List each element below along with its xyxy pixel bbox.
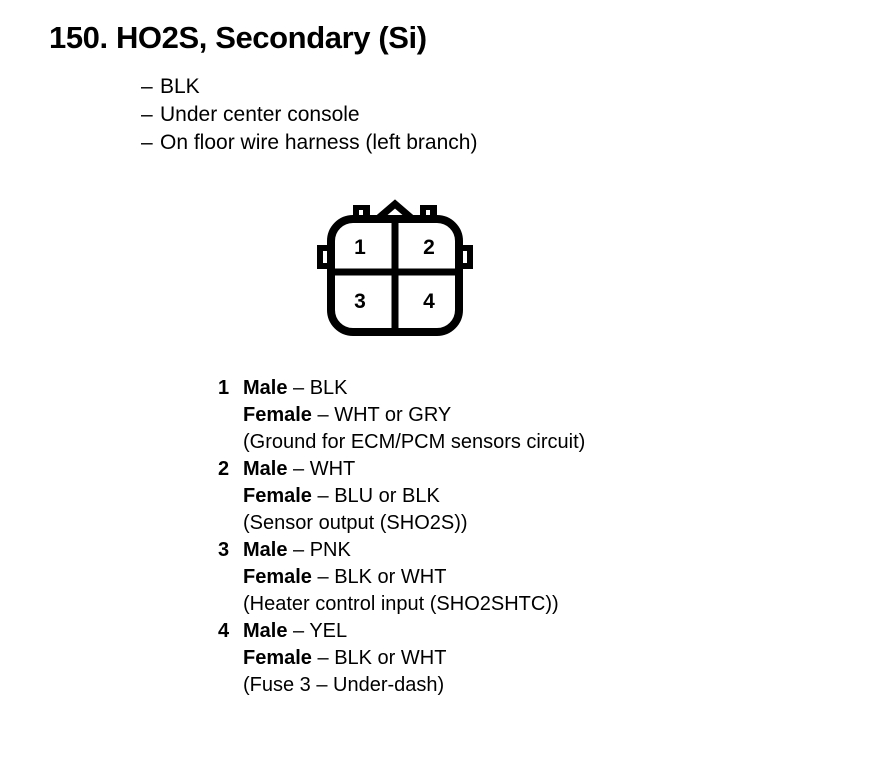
pin-male-separator: –	[287, 620, 309, 642]
pin-male-separator: –	[287, 539, 309, 561]
pin-entry-index: 1	[218, 375, 243, 402]
pin-female-separator: –	[312, 404, 334, 426]
pin-male-color: YEL	[309, 620, 347, 642]
bullet-dash-icon: –	[141, 73, 160, 101]
pin-male-label: Male	[243, 458, 287, 480]
location-item-label: BLK	[160, 73, 200, 101]
location-list: – BLK – Under center console – On floor …	[141, 73, 477, 157]
pin-female-row: Female – BLK or WHT	[243, 645, 446, 672]
pin-entry: 4 Male – YEL Female – BLK or WHT (Fuse 3…	[218, 618, 585, 699]
connector-pin-number-2: 2	[423, 236, 435, 259]
pin-female-separator: –	[312, 647, 334, 669]
location-item-label: Under center console	[160, 101, 360, 129]
pin-female-color: BLK or WHT	[334, 647, 446, 669]
connector-pin-number-4: 4	[423, 290, 435, 313]
pin-function: (Sensor output (SHO2S))	[243, 510, 468, 537]
pin-male-color: BLK	[310, 377, 348, 399]
pin-female-label: Female	[243, 647, 312, 669]
location-item: – Under center console	[141, 101, 477, 129]
pin-male-color: WHT	[310, 458, 356, 480]
pin-function: (Ground for ECM/PCM sensors circuit)	[243, 429, 585, 456]
pin-entry: 2 Male – WHT Female – BLU or BLK (Sensor…	[218, 456, 585, 537]
bullet-dash-icon: –	[141, 101, 160, 129]
pin-entry: 3 Male – PNK Female – BLK or WHT (Heater…	[218, 537, 585, 618]
location-item: – BLK	[141, 73, 477, 101]
pin-male-separator: –	[287, 377, 309, 399]
pin-female-color: BLK or WHT	[334, 566, 446, 588]
pin-entry: 1 Male – BLK Female – WHT or GRY (Ground…	[218, 375, 585, 456]
pin-description-list: 1 Male – BLK Female – WHT or GRY (Ground…	[218, 375, 585, 699]
pin-male-label: Male	[243, 539, 287, 561]
pin-female-label: Female	[243, 404, 312, 426]
pin-female-label: Female	[243, 566, 312, 588]
pin-male-row: Male – WHT	[243, 456, 468, 483]
pin-male-row: Male – PNK	[243, 537, 559, 564]
pin-female-label: Female	[243, 485, 312, 507]
pin-male-label: Male	[243, 377, 287, 399]
pin-male-separator: –	[287, 458, 309, 480]
location-item-label: On floor wire harness (left branch)	[160, 129, 477, 157]
pin-function: (Heater control input (SHO2SHTC))	[243, 591, 559, 618]
pin-female-separator: –	[312, 566, 334, 588]
pin-entry-index: 4	[218, 618, 243, 645]
location-item: – On floor wire harness (left branch)	[141, 129, 477, 157]
pin-male-label: Male	[243, 620, 287, 642]
pin-entry-index: 2	[218, 456, 243, 483]
pin-female-row: Female – BLK or WHT	[243, 564, 559, 591]
pin-female-separator: –	[312, 485, 334, 507]
pin-male-row: Male – YEL	[243, 618, 446, 645]
page-title: 150. HO2S, Secondary (Si)	[49, 20, 427, 56]
bullet-dash-icon: –	[141, 129, 160, 157]
pin-male-row: Male – BLK	[243, 375, 585, 402]
pin-female-color: BLU or BLK	[334, 485, 440, 507]
pin-female-row: Female – WHT or GRY	[243, 402, 585, 429]
pin-male-color: PNK	[310, 539, 351, 561]
connector-pin-number-1: 1	[354, 236, 366, 259]
pin-entry-index: 3	[218, 537, 243, 564]
connector-diagram: 1 2 3 4	[300, 186, 490, 356]
pin-function: (Fuse 3 – Under-dash)	[243, 672, 446, 699]
connector-pin-number-3: 3	[354, 290, 366, 313]
pin-female-row: Female – BLU or BLK	[243, 483, 468, 510]
pin-female-color: WHT or GRY	[334, 404, 451, 426]
